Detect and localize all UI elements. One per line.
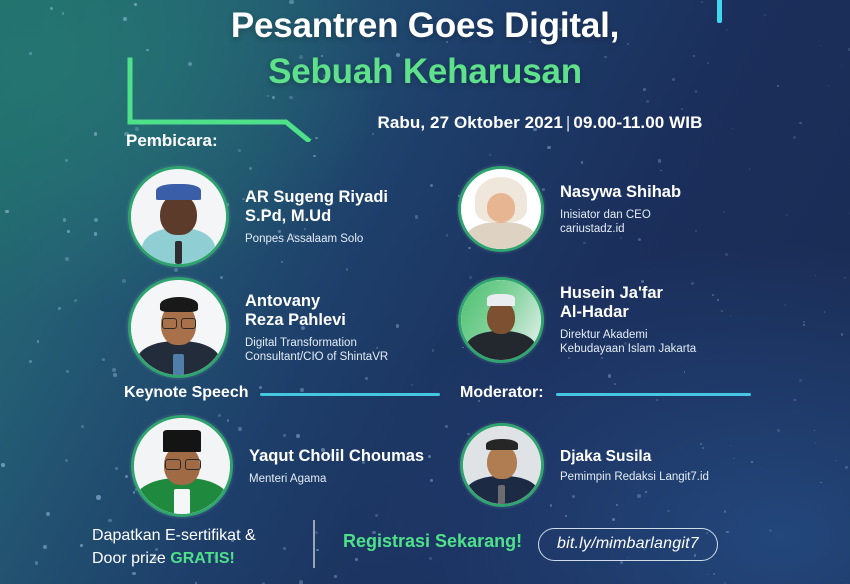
speaker-4-name-line-2: Al-Hadar <box>560 303 696 322</box>
speaker-4-role-line-2: Kebudayaan Islam Jakarta <box>560 342 696 356</box>
speaker-1-name-line-1: AR Sugeng Riyadi <box>245 188 388 207</box>
avatar-ar-sugeng-riyadi <box>128 166 229 267</box>
keynote-section-label: Keynote Speech <box>124 384 248 402</box>
speaker-card-3: Antovany Reza Pahlevi Digital Transforma… <box>128 277 388 378</box>
registration-cta: Registrasi Sekarang! <box>343 531 522 552</box>
speakers-section-label: Pembicara: <box>126 131 218 151</box>
footer-perk-line-2-plain: Door prize <box>92 550 170 567</box>
registration-link-button[interactable]: bit.ly/mimbarlangit7 <box>538 528 718 561</box>
speaker-4-role-line-1: Direktur Akademi <box>560 328 696 342</box>
footer-perk-gratis: GRATIS! <box>170 550 235 567</box>
moderator-card: Djaka Susila Pemimpin Redaksi Langit7.id <box>460 423 709 507</box>
speaker-2-text: Nasywa Shihab Inisiator dan CEO cariusta… <box>560 183 681 236</box>
keynote-text: Yaqut Cholil Choumas Menteri Agama <box>249 447 424 486</box>
speaker-3-name-line-1: Antovany <box>245 292 388 311</box>
footer-vertical-divider <box>313 520 315 568</box>
avatar-husein-jafar-al-hadar <box>458 277 544 363</box>
keynote-name: Yaqut Cholil Choumas <box>249 447 424 466</box>
speaker-4-name-line-1: Husein Ja'far <box>560 284 696 303</box>
event-date: Rabu, 27 Oktober 2021 <box>377 113 562 132</box>
speaker-1-name-line-2: S.Pd, M.Ud <box>245 207 388 226</box>
avatar-nasywa-shihab <box>458 166 544 252</box>
speaker-1-text: AR Sugeng Riyadi S.Pd, M.Ud Ponpes Assal… <box>245 188 388 246</box>
speaker-3-role-line-2: Consultant/CIO of ShintaVR <box>245 350 388 364</box>
moderator-role: Pemimpin Redaksi Langit7.id <box>560 470 709 484</box>
footer-perk-line-2: Door prize GRATIS! <box>92 547 256 570</box>
speaker-card-2: Nasywa Shihab Inisiator dan CEO cariusta… <box>458 166 681 252</box>
keynote-card: Yaqut Cholil Choumas Menteri Agama <box>131 415 424 517</box>
avatar-antovany-reza-pahlevi <box>128 277 229 378</box>
moderator-name: Djaka Susila <box>560 447 709 466</box>
speaker-2-role-line-1: Inisiator dan CEO <box>560 208 681 222</box>
footer-perks: Dapatkan E-sertifikat & Door prize GRATI… <box>92 524 256 570</box>
title-line-1: Pesantren Goes Digital, <box>0 4 850 48</box>
moderator-divider-rule <box>556 393 751 396</box>
datetime-separator: | <box>563 113 574 132</box>
speaker-2-name-line-1: Nasywa Shihab <box>560 183 681 202</box>
avatar-djaka-susila <box>460 423 544 507</box>
moderator-text: Djaka Susila Pemimpin Redaksi Langit7.id <box>560 447 709 484</box>
title-line-2: Sebuah Keharusan <box>0 50 850 94</box>
keynote-role: Menteri Agama <box>249 472 424 486</box>
speaker-card-4: Husein Ja'far Al-Hadar Direktur Akademi … <box>458 277 696 363</box>
avatar-yaqut-cholil-choumas <box>131 415 233 517</box>
speaker-1-role-line-1: Ponpes Assalaam Solo <box>245 232 388 246</box>
footer-perk-line-1: Dapatkan E-sertifikat & <box>92 524 256 547</box>
poster-title-block: Pesantren Goes Digital, Sebuah Keharusan <box>0 4 850 94</box>
speaker-4-text: Husein Ja'far Al-Hadar Direktur Akademi … <box>560 284 696 356</box>
speaker-3-name-line-2: Reza Pahlevi <box>245 311 388 330</box>
keynote-divider-rule <box>260 393 440 396</box>
webinar-poster: Pesantren Goes Digital, Sebuah Keharusan… <box>0 0 850 584</box>
event-datetime: Rabu, 27 Oktober 2021|09.00-11.00 WIB <box>330 113 750 133</box>
speaker-3-role-line-1: Digital Transformation <box>245 336 388 350</box>
speaker-card-1: AR Sugeng Riyadi S.Pd, M.Ud Ponpes Assal… <box>128 166 388 267</box>
speaker-3-text: Antovany Reza Pahlevi Digital Transforma… <box>245 292 388 364</box>
moderator-section-label: Moderator: <box>460 384 544 402</box>
event-time: 09.00-11.00 WIB <box>573 113 702 132</box>
speaker-2-role-line-2: cariustadz.id <box>560 222 681 236</box>
